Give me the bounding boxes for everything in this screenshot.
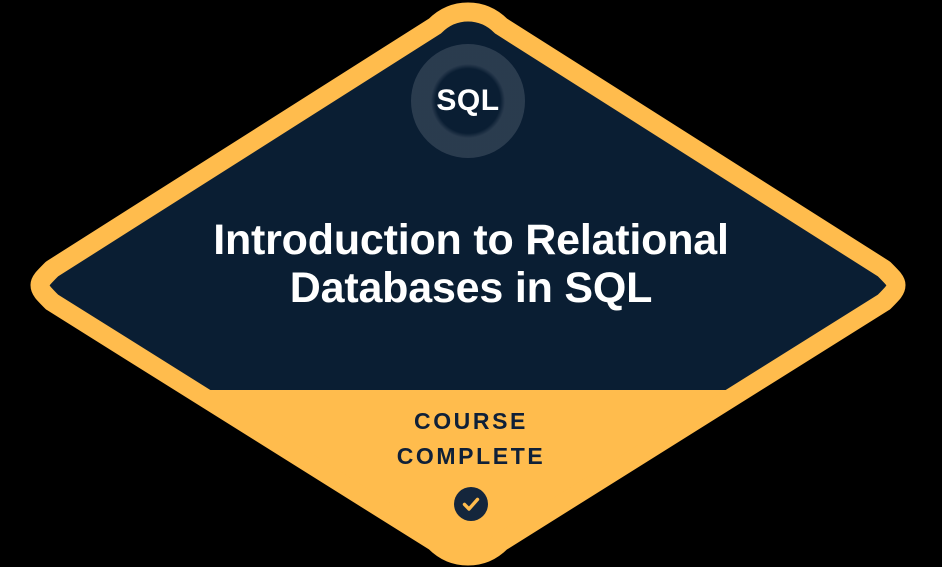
- completion-status-line-1: COURSE: [171, 404, 771, 439]
- completion-status-line-2: COMPLETE: [171, 439, 771, 474]
- course-title-line-2: Databases in SQL: [90, 264, 852, 312]
- badge-content-layer: SQL Introduction to Relational Databases…: [0, 0, 942, 567]
- check-circle-icon: [454, 487, 488, 521]
- course-title-line-1: Introduction to Relational: [90, 216, 852, 264]
- course-title: Introduction to Relational Databases in …: [90, 216, 852, 312]
- course-completion-badge: SQL Introduction to Relational Databases…: [0, 0, 942, 567]
- completion-status: COURSE COMPLETE: [171, 404, 771, 526]
- sql-emblem-label: SQL: [436, 86, 499, 116]
- sql-emblem: SQL: [411, 44, 525, 158]
